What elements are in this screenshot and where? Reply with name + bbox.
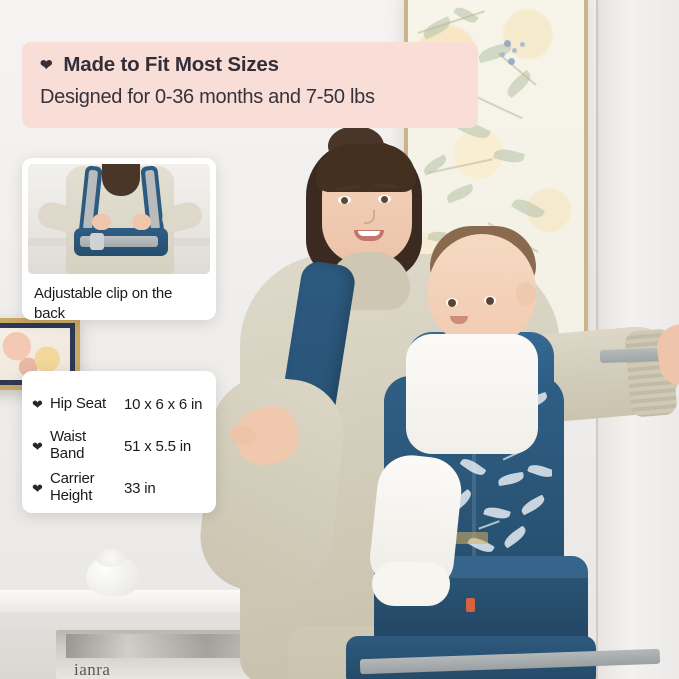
model-with-baby-carrier (196, 126, 666, 679)
print-leaf (497, 472, 524, 486)
spec-value: 51 x 5.5 in (124, 438, 191, 455)
baby-eye-right (484, 296, 496, 305)
heart-icon: ❤ (32, 398, 50, 411)
spec-label: Waist Band (50, 429, 124, 463)
spec-row: ❤ Waist Band 51 x 5.5 in (32, 425, 206, 467)
headline-banner: ❤ Made to Fit Most Sizes Designed for 0-… (22, 42, 478, 128)
feature-photo-caption: Adjustable clip on the back (28, 274, 210, 324)
baby-ear (516, 282, 536, 306)
print-leaf (527, 462, 552, 480)
artwork-leaf (421, 16, 453, 40)
specifications-card: ❤ Hip Seat 10 x 6 x 6 in ❤ Waist Band 51… (22, 371, 216, 513)
decorative-vase (86, 556, 140, 596)
eye-right (378, 195, 391, 203)
carrier-brand-tag (466, 598, 475, 612)
baby-eye-left (446, 298, 458, 307)
carrier-logo-patch (452, 532, 488, 544)
spec-row: ❤ Hip Seat 10 x 6 x 6 in (32, 383, 206, 425)
spec-label: Hip Seat (50, 396, 124, 413)
print-leaf (501, 525, 528, 548)
print-stem (478, 520, 499, 529)
artwork-leaf (504, 70, 535, 98)
banner-title: Made to Fit Most Sizes (63, 53, 278, 77)
spec-row: ❤ Carrier Height 33 in (32, 467, 206, 509)
product-feature-image: ianra (0, 0, 679, 679)
carrier-waist-belt (346, 636, 596, 679)
heart-icon: ❤ (40, 58, 52, 73)
spec-value: 10 x 6 x 6 in (124, 396, 202, 413)
photo-adjustable-clip (90, 233, 104, 250)
artwork-berry (520, 42, 525, 47)
spec-value: 33 in (124, 480, 156, 497)
baby-body (406, 334, 538, 454)
eye-left (338, 196, 351, 204)
photo-hand-right (132, 214, 151, 230)
feature-photo-card: Adjustable clip on the back (22, 158, 216, 320)
baby-foot (372, 562, 450, 606)
carrier-belt-webbing (360, 649, 660, 674)
artwork-berry (508, 58, 515, 65)
artwork-berry (512, 48, 517, 53)
banner-subtitle: Designed for 0-36 months and 7-50 lbs (40, 86, 458, 109)
photo-hand-left (92, 214, 111, 230)
spec-label: Carrier Height (50, 471, 124, 505)
print-leaf (483, 505, 511, 521)
print-leaf (519, 494, 547, 515)
magazine-title: ianra (74, 660, 110, 679)
artwork-berry (500, 52, 505, 57)
hair-front (316, 144, 416, 192)
feature-photo (28, 164, 210, 274)
artwork-berry (504, 40, 511, 47)
heart-icon: ❤ (32, 440, 50, 453)
banner-title-row: ❤ Made to Fit Most Sizes (40, 53, 458, 77)
heart-icon: ❤ (32, 482, 50, 495)
